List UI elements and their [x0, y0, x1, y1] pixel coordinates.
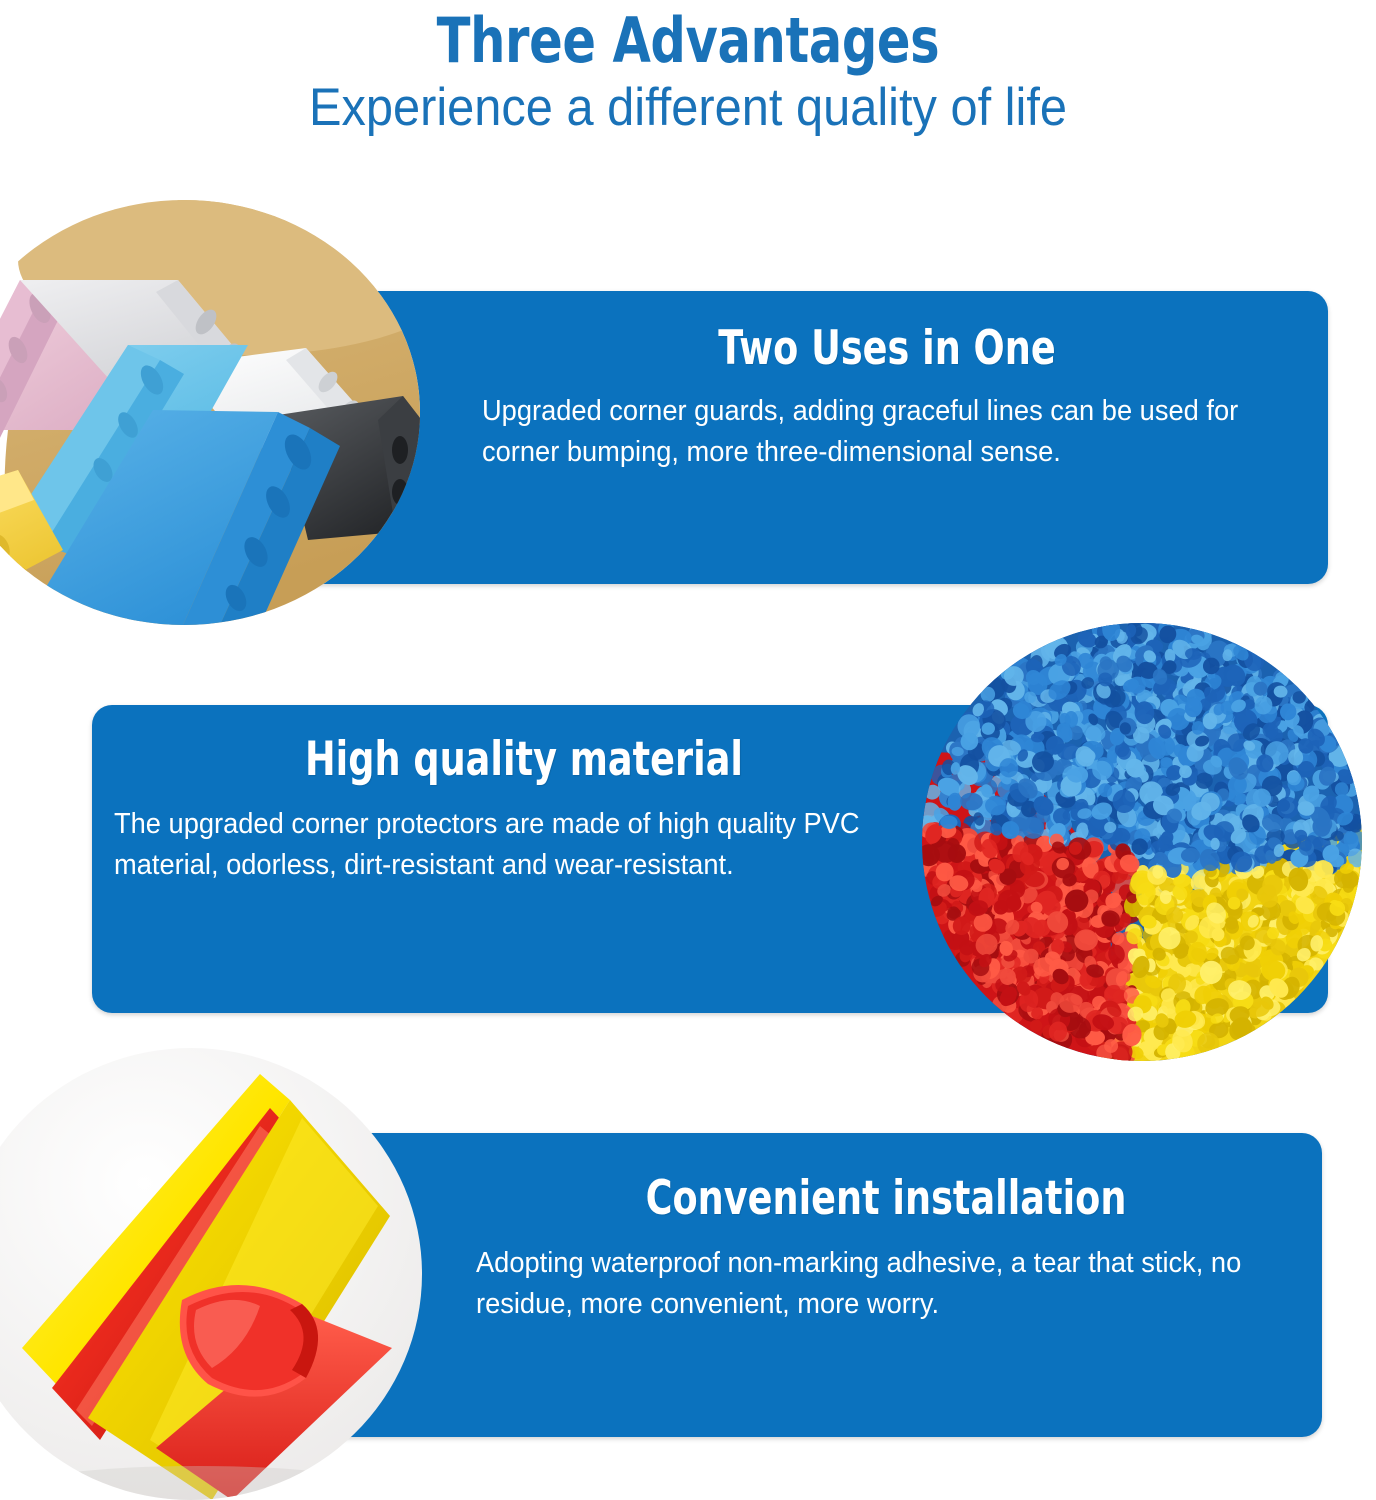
advantage-card-3-title: Convenient installation	[566, 1171, 1206, 1227]
page-title: Three Advantages	[138, 6, 1239, 76]
advantage-card-2-description: The upgraded corner protectors are made …	[114, 804, 885, 886]
advantage-card-1-body: Two Uses in One Upgraded corner guards, …	[482, 321, 1292, 473]
header: Three Advantages Experience a different …	[0, 0, 1376, 138]
advantage-card-3-description: Adopting waterproof non-marking adhesive…	[476, 1243, 1247, 1325]
advantage-card-2-title: High quality material	[204, 732, 844, 788]
advantage-card-1-title: Two Uses in One	[571, 321, 1203, 377]
advantage-card-3-body: Convenient installation Adopting waterpr…	[476, 1171, 1296, 1325]
advantage-card-1-description: Upgraded corner guards, adding graceful …	[482, 391, 1243, 473]
advantage-card-2-body: High quality material The upgraded corne…	[114, 732, 934, 886]
pvc-pellets-photo	[922, 623, 1362, 1061]
page-subtitle: Experience a different quality of life	[55, 78, 1321, 138]
